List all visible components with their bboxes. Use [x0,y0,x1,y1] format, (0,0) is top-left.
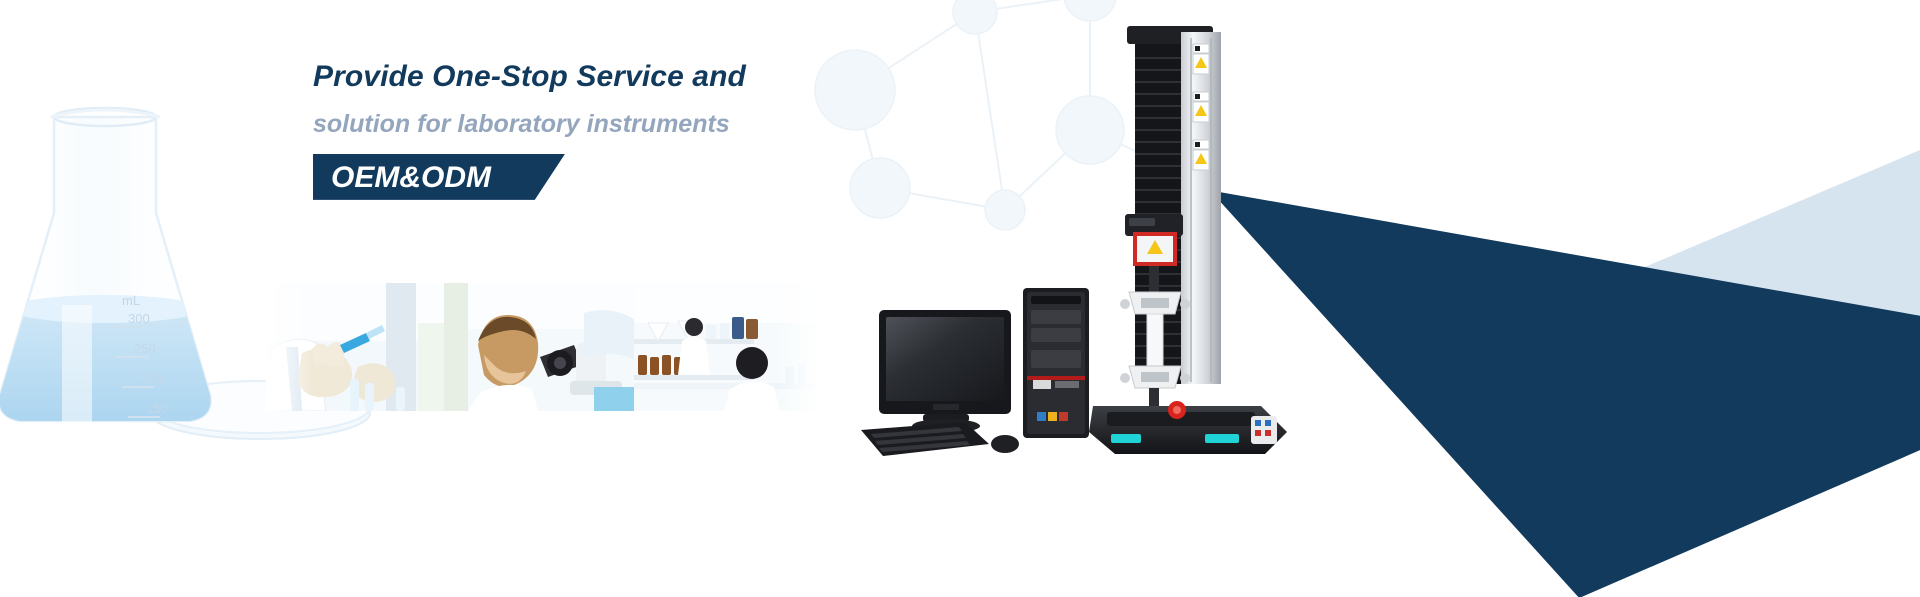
svg-text:mL: mL [122,293,140,308]
promotional-banner: mL 300 250 200 150 Provide One-Stop Serv… [0,0,1920,597]
photo-strip [266,283,820,411]
svg-text:200: 200 [140,371,162,386]
headline-secondary: solution for laboratory instruments [313,107,953,142]
oem-odm-badge-label: OEM&ODM [331,158,491,198]
svg-text:250: 250 [134,341,156,356]
desktop-computer-set [855,280,1115,460]
oem-odm-badge: OEM&ODM [313,154,565,200]
headline-primary: Provide One-Stop Service and [313,56,953,97]
photo-gloved-hands-pipette [266,283,444,411]
svg-text:300: 300 [128,311,150,326]
photo-laboratory-workers [634,283,820,411]
photo-scientist-microscope [444,283,634,411]
svg-text:150: 150 [146,401,168,416]
headline-block: Provide One-Stop Service and solution fo… [313,56,953,200]
